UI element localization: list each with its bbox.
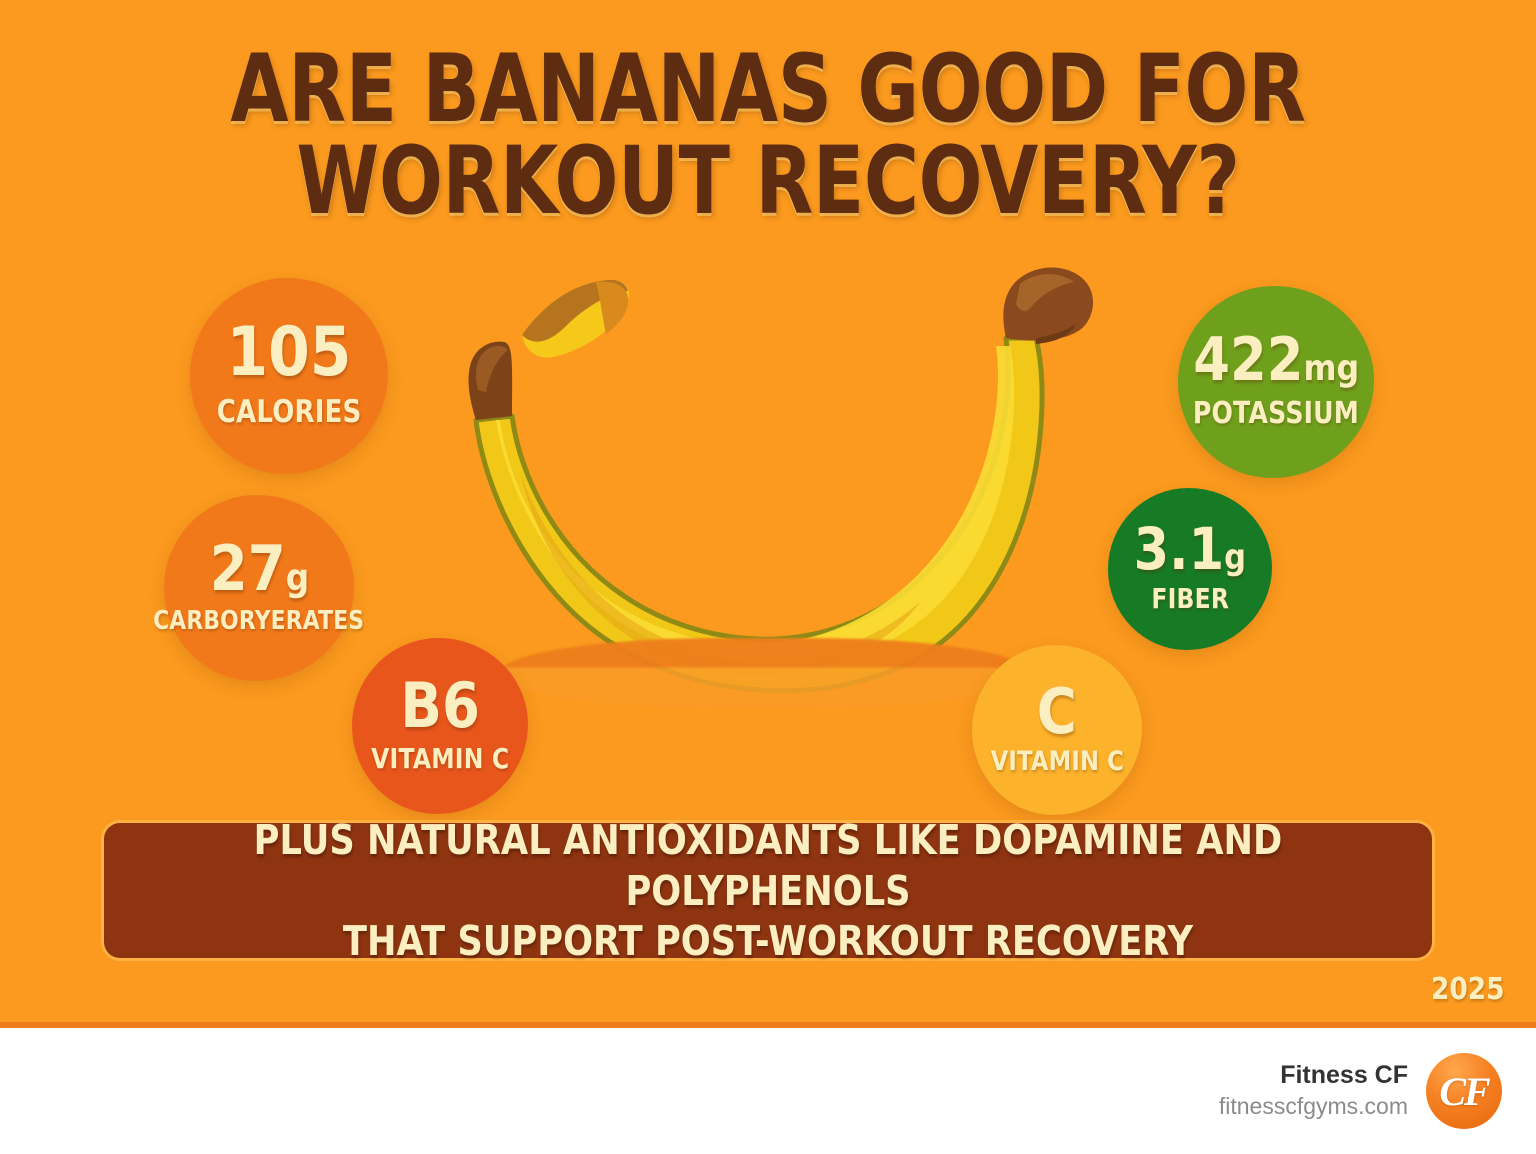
stat-value: C (1037, 683, 1077, 740)
brand-name: Fitness CF (1219, 1060, 1408, 1091)
stat-label: VITAMIN C (371, 742, 509, 775)
stat-badge-potassium: 422mg POTASSIUM (1178, 286, 1374, 478)
banana-peel-fragment (522, 280, 629, 358)
stat-label: POTASSIUM (1193, 396, 1359, 431)
cf-logo-icon: CF (1426, 1053, 1502, 1129)
stat-value: 3.1g (1134, 523, 1246, 576)
stat-badge-vitamin-c: C VITAMIN C (972, 645, 1142, 815)
callout-banner: PLUS NATURAL ANTIOXIDANTS LIKE DOPAMINE … (104, 823, 1432, 958)
stat-badge-fiber: 3.1g FIBER (1108, 488, 1272, 650)
cf-logo-text: CF (1439, 1068, 1488, 1115)
stat-value: B6 (400, 677, 480, 734)
footer-bar: Fitness CF fitnesscfgyms.com CF (0, 1028, 1536, 1154)
page-title: ARE BANANAS GOOD FOR WORKOUT RECOVERY? (154, 44, 1383, 228)
stat-value: 422mg (1193, 333, 1359, 388)
stat-value: 27g (209, 540, 308, 597)
stat-label: FIBER (1151, 582, 1229, 615)
year-label: 2025 (1431, 972, 1504, 1007)
stat-label: VITAMIN C (990, 746, 1123, 777)
callout-banner-text: PLUS NATURAL ANTIOXIDANTS LIKE DOPAMINE … (197, 815, 1339, 965)
stat-badge-vitamin-b6: B6 VITAMIN C (352, 638, 528, 814)
stat-label: CARBORYERATES (153, 606, 364, 636)
stat-badge-calories: 105 CALORIES (190, 278, 388, 474)
stat-value: 105 (227, 322, 352, 385)
brand-url[interactable]: fitnesscfgyms.com (1219, 1092, 1408, 1122)
poster-canvas: ARE BANANAS GOOD FOR WORKOUT RECOVERY? (0, 0, 1536, 1022)
infographic-poster: ARE BANANAS GOOD FOR WORKOUT RECOVERY? (0, 0, 1536, 1154)
banana-shadow (500, 638, 1030, 708)
footer-text-block: Fitness CF fitnesscfgyms.com (1219, 1060, 1408, 1121)
stat-label: CALORIES (217, 394, 362, 430)
stat-badge-carbohydrates: 27g CARBORYERATES (164, 495, 354, 681)
